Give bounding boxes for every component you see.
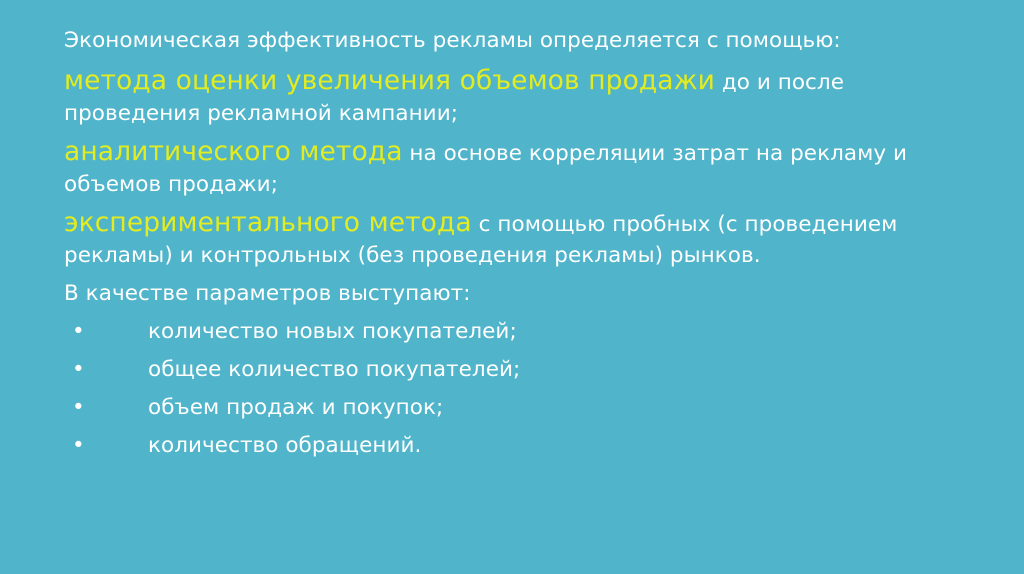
slide-content: Экономическая эффективность рекламы опре… [64, 26, 920, 465]
slide-canvas: Экономическая эффективность рекламы опре… [0, 0, 1024, 574]
method-lead-1: метода оценки увеличения объемов продажи [64, 65, 715, 96]
method-paragraph-3: экспериментального метода с помощью проб… [64, 207, 920, 271]
method-lead-3: экспериментального метода [64, 207, 472, 238]
parameters-list: • количество новых покупателей; • общее … [64, 313, 920, 465]
parameters-lead: В качестве параметров выступают: [64, 278, 920, 309]
bullet-dot-icon: • [64, 389, 148, 427]
list-item: • объем продаж и покупок; [64, 389, 920, 427]
method-paragraph-1: метода оценки увеличения объемов продажи… [64, 65, 920, 129]
bullet-dot-icon: • [64, 313, 148, 351]
list-item-label: общее количество покупателей; [148, 351, 920, 389]
list-item-label: объем продаж и покупок; [148, 389, 920, 427]
list-item: • количество новых покупателей; [64, 313, 920, 351]
bullet-dot-icon: • [64, 427, 148, 465]
list-item: • количество обращений. [64, 427, 920, 465]
method-lead-2: аналитического метода [64, 136, 403, 167]
method-paragraph-2: аналитического метода на основе корреляц… [64, 136, 920, 200]
intro-paragraph: Экономическая эффективность рекламы опре… [64, 26, 920, 56]
list-item-label: количество новых покупателей; [148, 313, 920, 351]
bullet-dot-icon: • [64, 351, 148, 389]
list-item-label: количество обращений. [148, 427, 920, 465]
list-item: • общее количество покупателей; [64, 351, 920, 389]
